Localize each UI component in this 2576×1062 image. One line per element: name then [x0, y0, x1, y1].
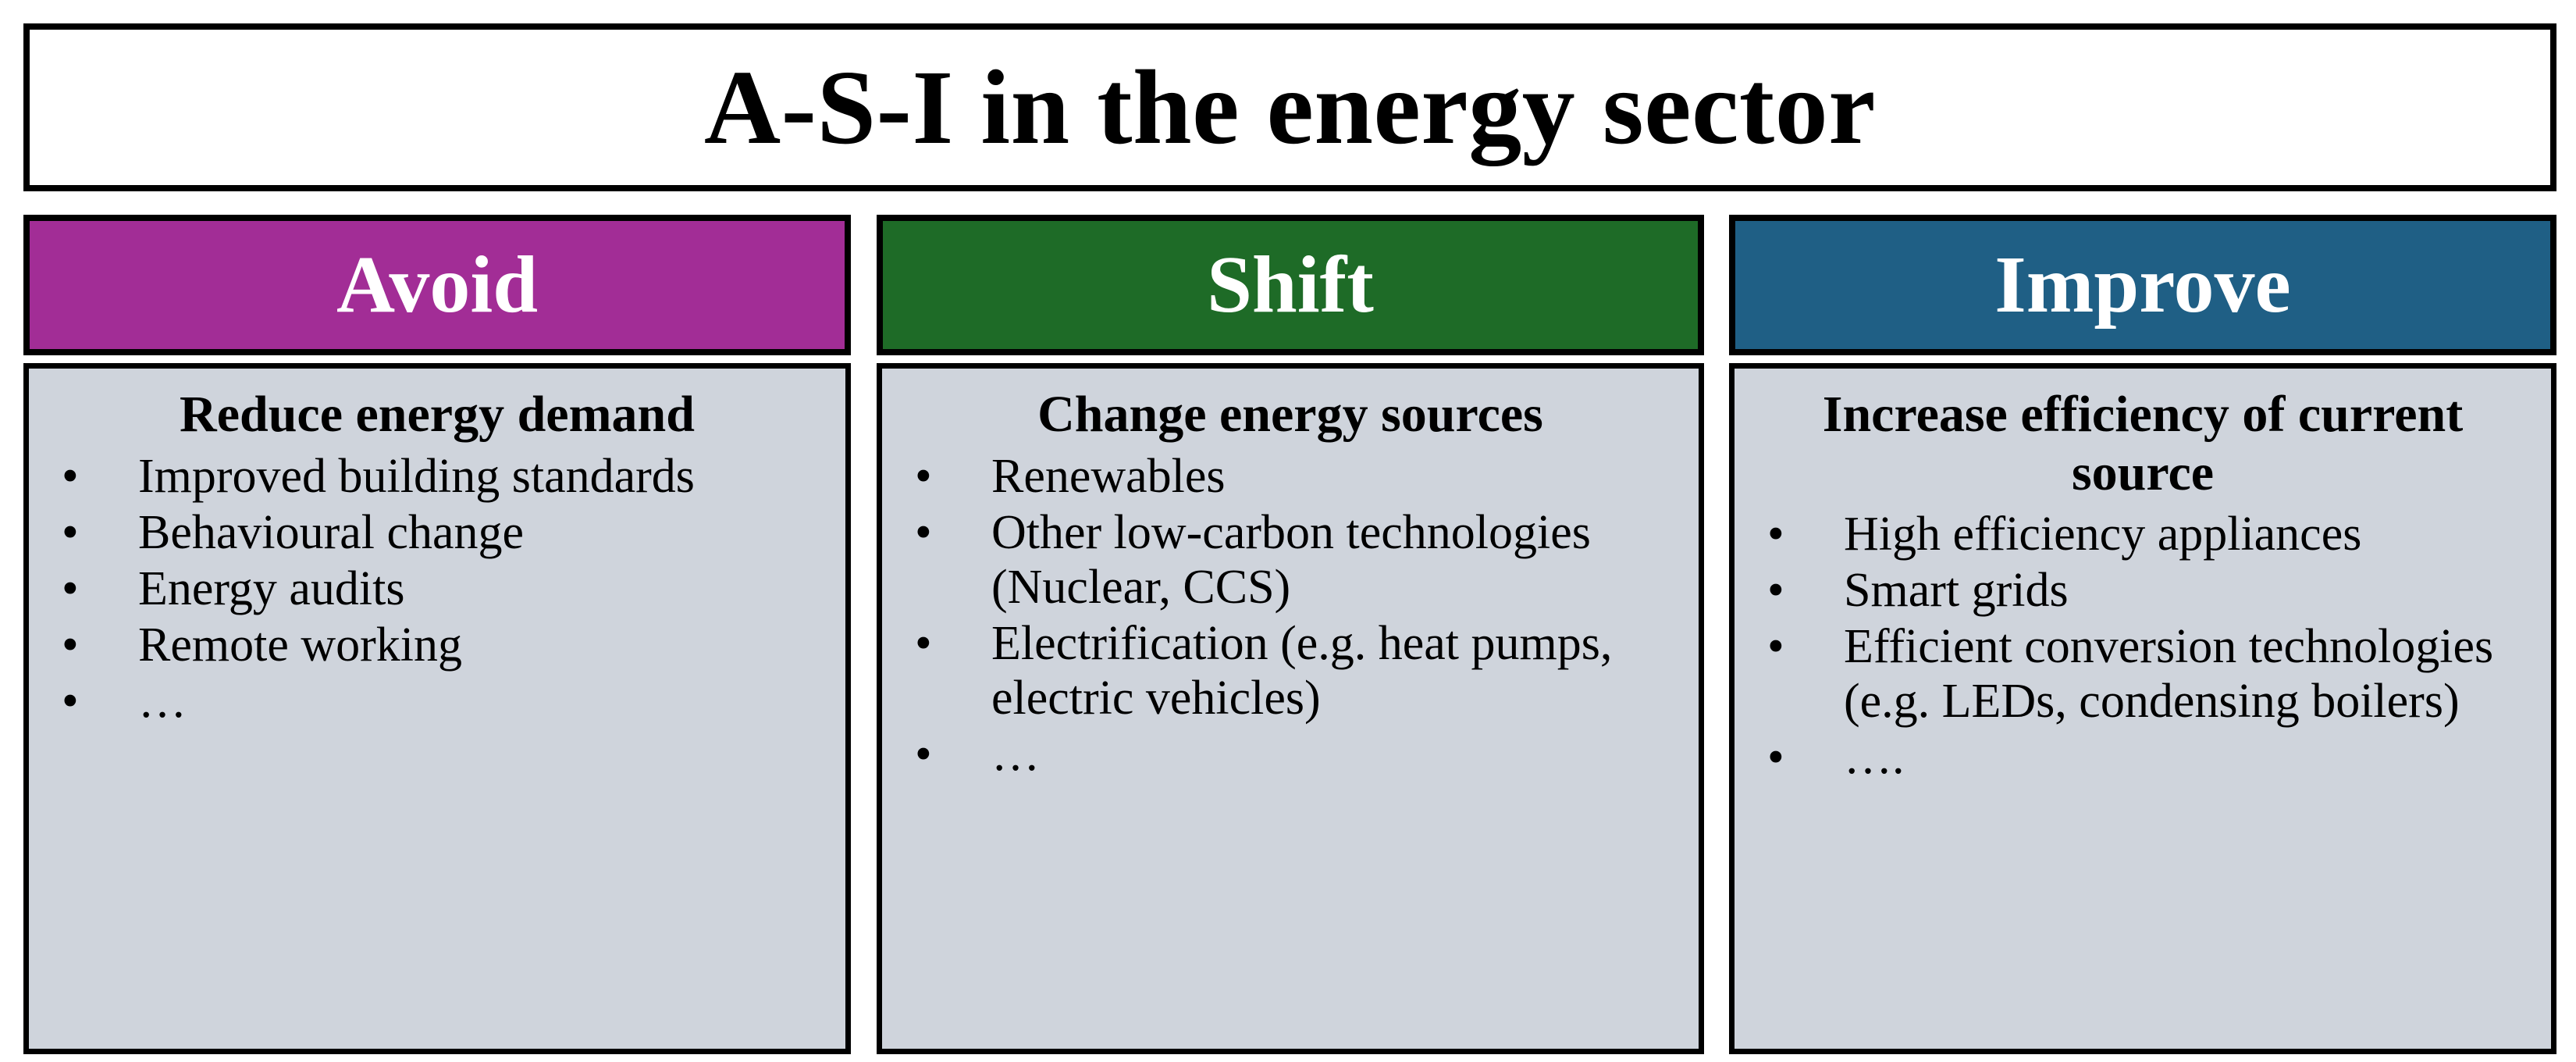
list-item-label: Renewables: [991, 449, 1686, 504]
column-header-improve: Improve: [1729, 215, 2556, 355]
list-item-label: …: [138, 674, 833, 729]
column-header-avoid: Avoid: [23, 215, 851, 355]
list-item-label: …: [991, 727, 1686, 782]
list-item: • Remote working: [41, 618, 833, 672]
list-item: • Smart grids: [1747, 563, 2539, 618]
bullet-dot-icon: •: [1767, 730, 1784, 785]
column-avoid: Avoid Reduce energy demand • Improved bu…: [23, 215, 851, 1054]
list-item: • Behavioural change: [41, 505, 833, 560]
list-item-label: Other low-carbon technologies (Nuclear, …: [991, 505, 1686, 615]
bullet-dot-icon: •: [62, 618, 79, 672]
list-item: • Energy audits: [41, 561, 833, 616]
bullet-dot-icon: •: [915, 505, 932, 560]
list-item-label: Smart grids: [1844, 563, 2539, 618]
list-item-label: Remote working: [138, 618, 833, 672]
list-item: • Electrification (e.g. heat pumps, elec…: [895, 616, 1686, 725]
bullet-dot-icon: •: [62, 561, 79, 616]
list-item: • Improved building standards: [41, 449, 833, 504]
list-item-label: Efficient conversion technologies (e.g. …: [1844, 619, 2539, 729]
column-improve: Improve Increase efficiency of current s…: [1729, 215, 2556, 1054]
bullet-dot-icon: •: [915, 449, 932, 504]
bullet-dot-icon: •: [1767, 563, 1784, 618]
column-body-avoid: Reduce energy demand • Improved building…: [23, 363, 851, 1054]
column-shift: Shift Change energy sources • Renewables…: [877, 215, 1704, 1054]
column-header-label-shift: Shift: [1207, 244, 1374, 326]
bullet-list-avoid: • Improved building standards • Behaviou…: [41, 449, 833, 729]
list-item: • Efficient conversion technologies (e.g…: [1747, 619, 2539, 729]
list-item-label: Energy audits: [138, 561, 833, 616]
bullet-list-shift: • Renewables • Other low-carbon technolo…: [895, 449, 1686, 782]
list-item-label: High efficiency appliances: [1844, 507, 2539, 561]
column-header-label-avoid: Avoid: [336, 244, 538, 326]
list-item-label: Electrification (e.g. heat pumps, electr…: [991, 616, 1686, 725]
column-body-shift: Change energy sources • Renewables • Oth…: [877, 363, 1704, 1054]
bullet-dot-icon: •: [1767, 507, 1784, 561]
list-item-label: ….: [1844, 730, 2539, 785]
list-item: • ….: [1747, 730, 2539, 785]
bullet-dot-icon: •: [62, 449, 79, 504]
list-item-label: Behavioural change: [138, 505, 833, 560]
list-item: • High efficiency appliances: [1747, 507, 2539, 561]
bullet-dot-icon: •: [62, 505, 79, 560]
list-item: • Other low-carbon technologies (Nuclear…: [895, 505, 1686, 615]
column-subtitle-improve: Increase efficiency of current source: [1755, 386, 2531, 502]
list-item-label: Improved building standards: [138, 449, 833, 504]
bullet-dot-icon: •: [1767, 619, 1784, 674]
slide-title: A-S-I in the energy sector: [704, 55, 1876, 161]
bullet-dot-icon: •: [915, 727, 932, 782]
asi-energy-sector-slide: A-S-I in the energy sector Avoid Reduce …: [0, 0, 2576, 1062]
column-subtitle-shift: Change energy sources: [902, 386, 1678, 444]
column-header-label-improve: Improve: [1994, 244, 2290, 326]
bullet-dot-icon: •: [62, 674, 79, 729]
column-subtitle-avoid: Reduce energy demand: [49, 386, 825, 444]
slide-title-box: A-S-I in the energy sector: [23, 23, 2556, 191]
bullet-list-improve: • High efficiency appliances • Smart gri…: [1747, 507, 2539, 785]
column-body-improve: Increase efficiency of current source • …: [1729, 363, 2556, 1054]
bullet-dot-icon: •: [915, 616, 932, 671]
list-item: • …: [895, 727, 1686, 782]
column-header-shift: Shift: [877, 215, 1704, 355]
list-item: • Renewables: [895, 449, 1686, 504]
list-item: • …: [41, 674, 833, 729]
